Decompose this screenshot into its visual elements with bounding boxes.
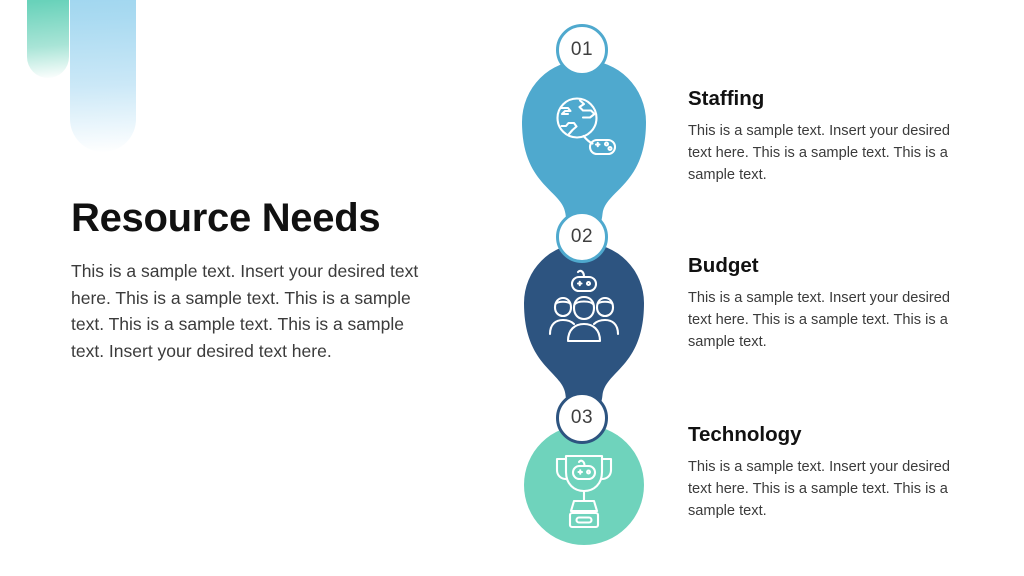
step-heading-budget: Budget [688, 255, 960, 278]
step-text-block-3: Technology This is a sample text. Insert… [688, 424, 960, 522]
step-text-block-1: Staffing This is a sample text. Insert y… [688, 88, 960, 186]
step-heading-staffing: Staffing [688, 88, 960, 111]
decorative-pill-blue [70, 0, 136, 152]
step-body-budget: This is a sample text. Insert your desir… [688, 287, 960, 354]
decorative-pill-green [27, 0, 69, 78]
step-text-block-2: Budget This is a sample text. Insert you… [688, 255, 960, 353]
page-intro-paragraph: This is a sample text. Insert your desir… [71, 258, 441, 364]
step-body-staffing: This is a sample text. Insert your desir… [688, 120, 960, 187]
slide-intro-block: Resource Needs This is a sample text. In… [71, 196, 441, 364]
step-number-badge-3[interactable]: 03 [556, 392, 608, 444]
process-flow-graphic [498, 0, 670, 576]
page-title: Resource Needs [71, 196, 441, 240]
step-number-badge-2[interactable]: 02 [556, 211, 608, 263]
step-body-technology: This is a sample text. Insert your desir… [688, 456, 960, 523]
step-number-badge-1[interactable]: 01 [556, 24, 608, 76]
step-heading-technology: Technology [688, 424, 960, 447]
decorative-shapes [0, 0, 200, 200]
